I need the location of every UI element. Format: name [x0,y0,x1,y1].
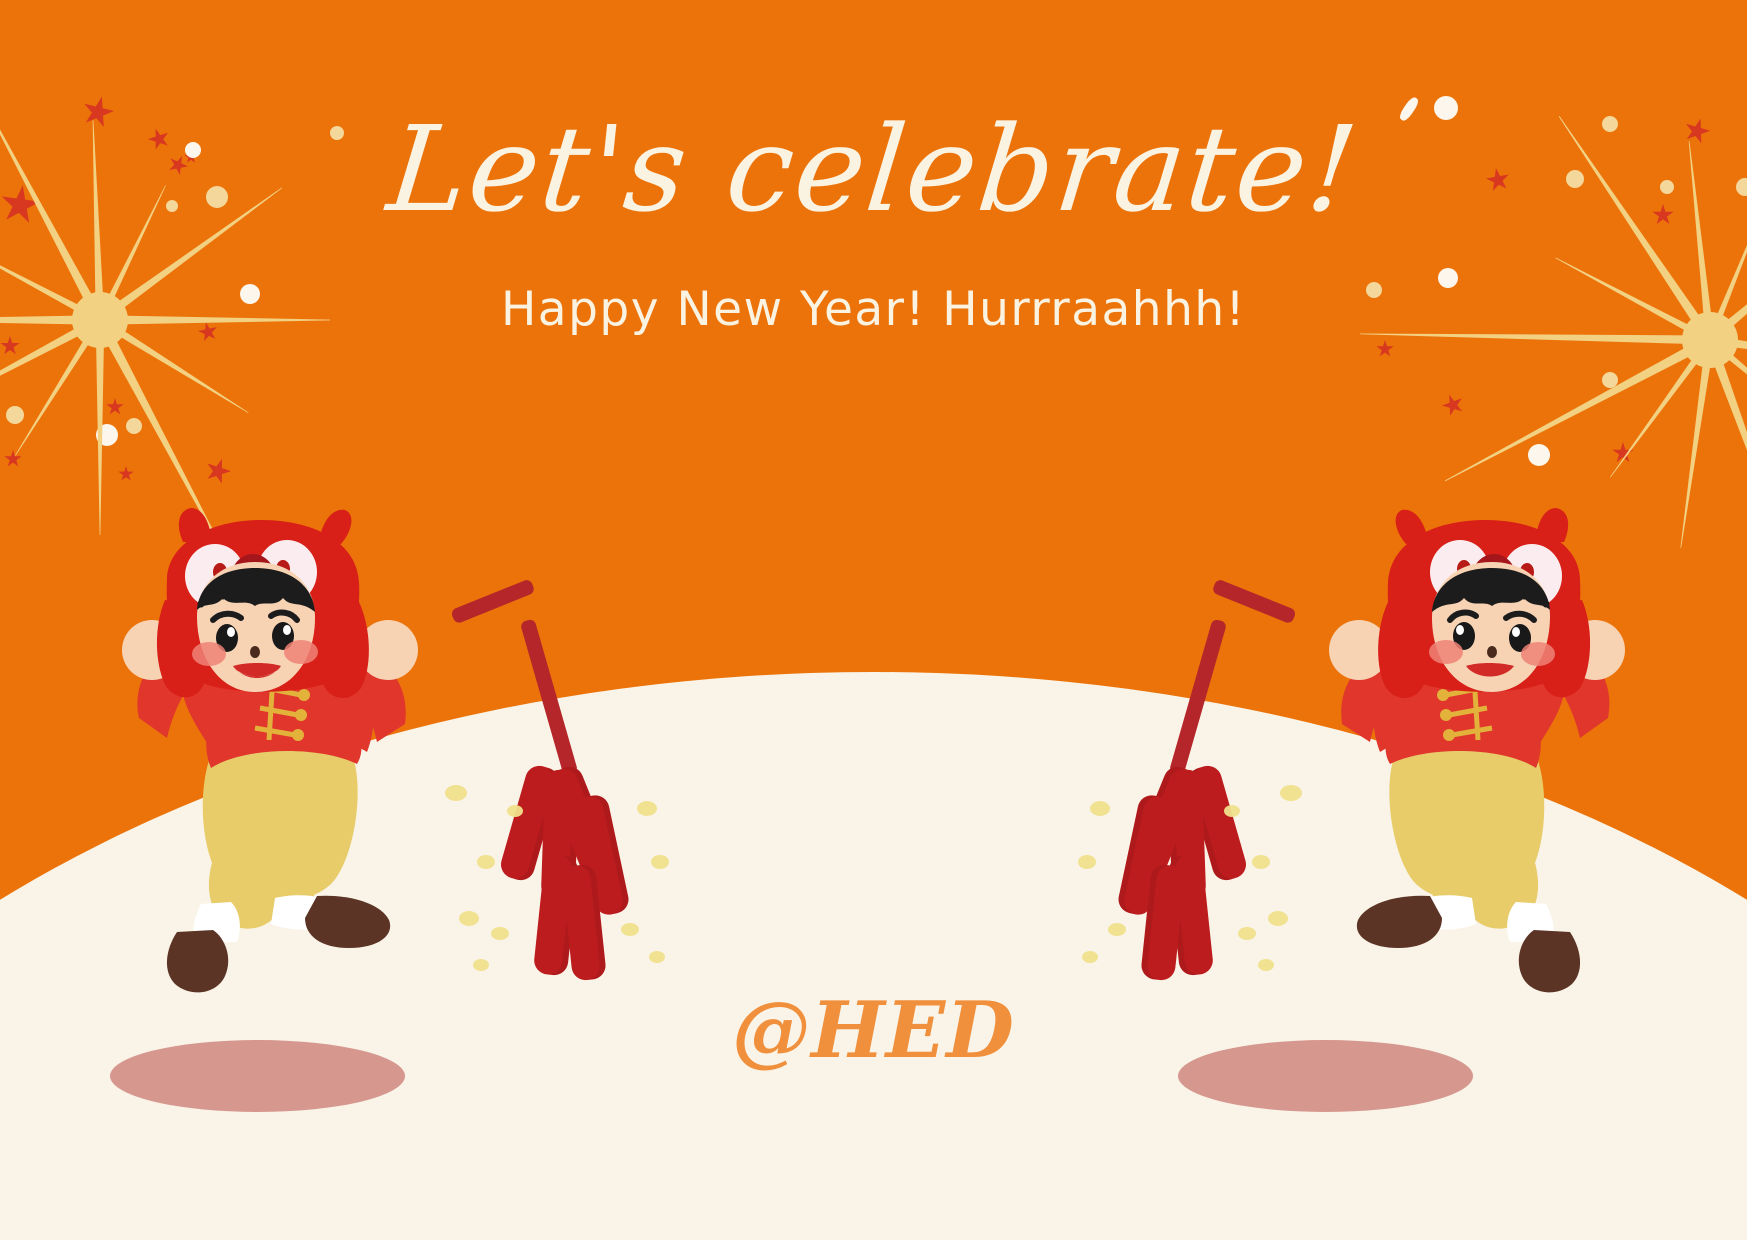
spark [1082,951,1098,963]
spark [507,805,523,817]
spark [621,923,639,936]
spark [651,855,669,869]
spark [1078,855,1096,869]
starburst-ray [1435,321,1721,501]
child-right [1302,480,1642,1020]
spark [649,951,665,963]
spark [1090,801,1110,816]
firecracker-pole [450,578,535,624]
spark [637,801,657,816]
firecracker-pole [520,618,579,776]
spark [1268,911,1288,926]
page-title: Let's celebrate! [0,108,1747,232]
watermark-handle: @HED [0,985,1747,1076]
spark [477,855,495,869]
child-left [105,480,445,1020]
spark [1258,959,1274,971]
spark [445,785,467,801]
page-subtitle: Happy New Year! Hurrraahhh! [0,282,1747,337]
spark [1280,785,1302,801]
spark [491,927,509,940]
spark [1238,927,1256,940]
child-illustration [1302,480,1642,1020]
spark [1108,923,1126,936]
spark [473,959,489,971]
spark [1252,855,1270,869]
firecracker-right [1072,555,1332,975]
firecracker-pole [1169,618,1228,776]
star-decor [1439,391,1467,419]
star-decor [1376,340,1394,358]
child-illustration [105,480,445,1020]
firecracker-pole [1211,578,1296,624]
greeting-card: Let's celebrate! Happy New Year! Hurrraa… [0,0,1747,1240]
starburst-ray [1690,333,1747,587]
spark [1224,805,1240,817]
spark [459,911,479,926]
starburst-ray [1598,331,1722,486]
firecracker-left [415,555,675,975]
